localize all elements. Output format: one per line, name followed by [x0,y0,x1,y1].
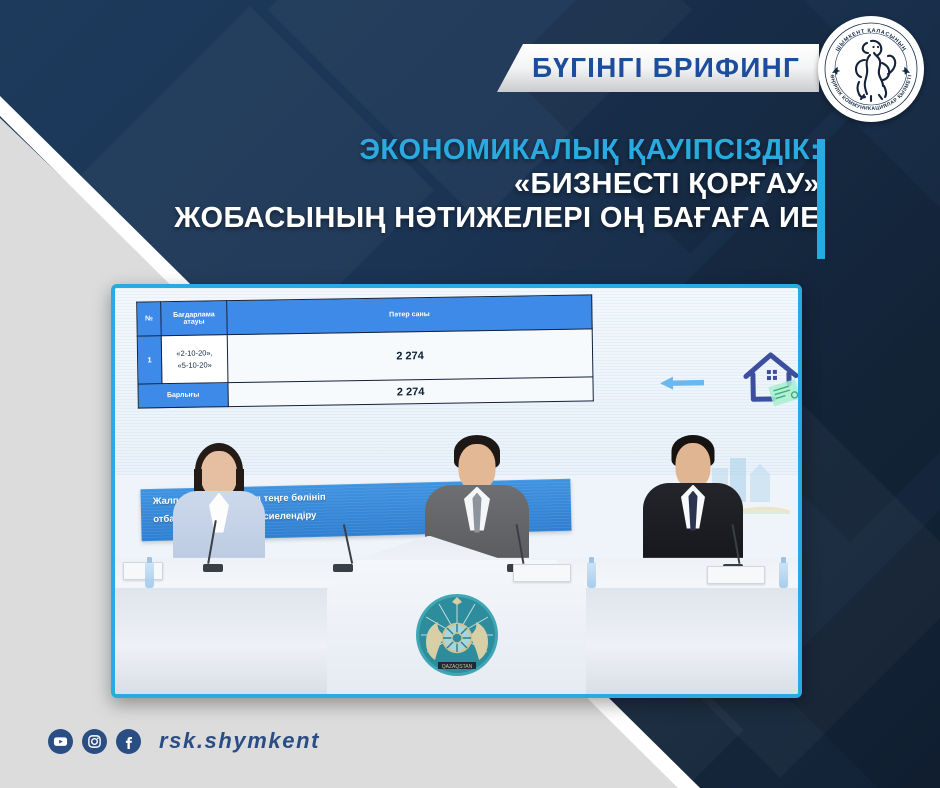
table-row: 1 «2-10-20», «5-10-20» 2 274 [137,329,593,384]
title-line-3: ЖОБАСЫНЫҢ НӘТИЖЕЛЕРІ ОҢ БАҒАҒА ИЕ [120,201,820,235]
house-with-certificate-icon [739,349,802,408]
water-bottle [145,562,154,588]
social-handle: rsk.shymkent [159,728,320,754]
instagram-icon[interactable] [82,729,107,754]
table-header-count: Пәтер саны [227,295,592,335]
title-line-1: ЭКОНОМИКАЛЫҚ ҚАУІПСІЗДІК: [120,133,820,167]
microphone-head [333,564,353,572]
panelist-head [676,443,711,488]
left-arrow-icon [660,376,704,391]
row-program: «2-10-20», «5-10-20» [161,335,228,384]
table-header-index: № [137,302,162,336]
total-value: 2 274 [228,377,593,407]
organization-seal-emblem: ШЫМКЕНТ ҚАЛАСЫНЫҢ ӨҢІРЛІК КОММУНИКАЦИЯЛА… [818,16,924,122]
nameplate [123,562,163,580]
kazakhstan-coat-of-arms: QAZAQSTAN [414,592,500,678]
poster-title: ЭКОНОМИКАЛЫҚ ҚАУІПСІЗДІК: «БИЗНЕСТІ ҚОРҒ… [120,133,820,236]
water-bottle [779,562,788,588]
svg-text:QAZAQSTAN: QAZAQSTAN [441,664,472,670]
facebook-icon[interactable] [116,729,141,754]
water-bottle [587,562,596,588]
poster-canvas: БҮГІНГІ БРИФИНГ ШЫМКЕНТ ҚАЛАСЫНЫҢ ӨҢІРЛІ… [0,0,940,788]
slide-statistics-table: № Бағдарлама атауы Пәтер саны 1 «2-10-20… [136,294,594,408]
title-accent-bar [817,139,825,259]
total-label: Барлығы [138,383,228,408]
row-count: 2 274 [227,329,593,383]
title-line-2: «БИЗНЕСТІ ҚОРҒАУ» [120,167,820,201]
table-header-program: Бағдарлама атауы [161,301,228,336]
briefing-banner-label: БҮГІНГІ БРИФИНГ [516,52,800,84]
footer-social-bar: rsk.shymkent [48,728,320,754]
microphone-head [203,564,223,572]
nameplate [513,564,571,582]
briefing-banner: БҮГІНГІ БРИФИНГ [497,44,819,92]
row-index: 1 [137,336,162,384]
press-conference-photo: № Бағдарлама атауы Пәтер саны 1 «2-10-20… [111,284,802,698]
panelist-head [459,444,496,490]
nameplate [707,566,765,584]
youtube-icon[interactable] [48,729,73,754]
